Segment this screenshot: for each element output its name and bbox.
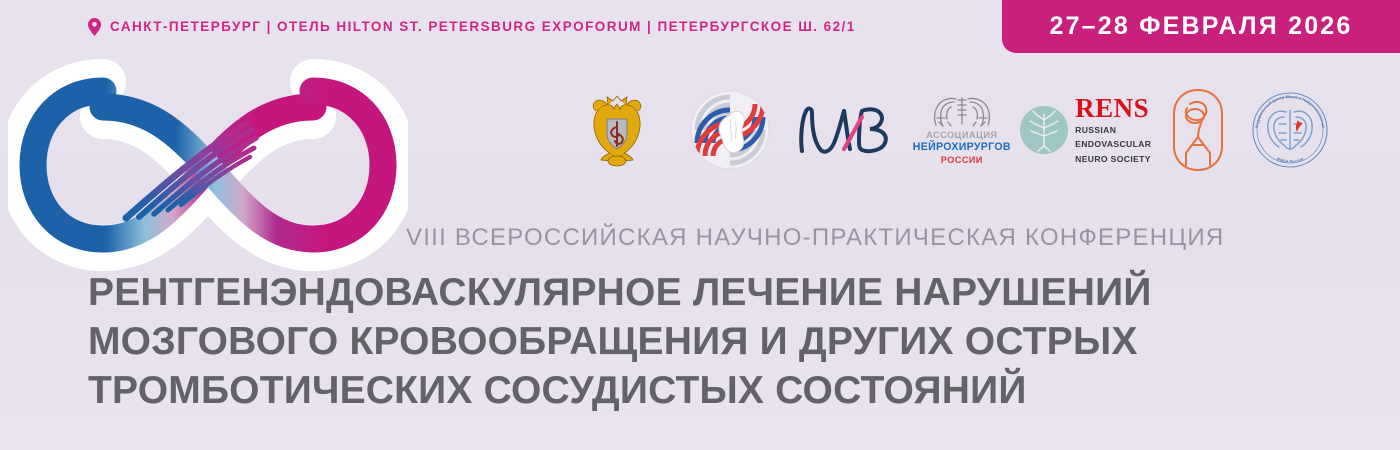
double-headed-eagle-icon <box>580 91 654 169</box>
venue-info: САНКТ-ПЕТЕРБУРГ | ОТЕЛЬ HILTON ST. PETER… <box>88 18 856 36</box>
venue-text: САНКТ-ПЕТЕРБУРГ | ОТЕЛЬ HILTON ST. PETER… <box>110 20 856 34</box>
brain-outline-icon <box>926 94 998 130</box>
top-bar: САНКТ-ПЕТЕРБУРГ | ОТЕЛЬ HILTON ST. PETER… <box>0 0 1400 58</box>
neuro-line-3: РОССИИ <box>941 155 983 167</box>
conference-banner: САНКТ-ПЕТЕРБУРГ | ОТЕЛЬ HILTON ST. PETER… <box>0 0 1400 450</box>
rens-brain-circle-icon <box>1018 104 1070 156</box>
headline-line-2: МОЗГОВОГО КРОВООБРАЩЕНИЯ И ДРУГИХ ОСТРЫХ <box>88 317 1328 366</box>
rens-sub-3: NEURO SOCIETY <box>1075 154 1151 165</box>
neuro-line-1: АССОЦИАЦИЯ <box>926 130 997 142</box>
date-badge: 27–28 ФЕВРАЛЯ 2026 <box>1002 0 1400 53</box>
rens-sub-2: ENDOVASCULAR <box>1075 139 1151 150</box>
neurosurgeons-association: АССОЦИАЦИЯ НЕЙРОХИРУРГОВ РОССИИ <box>910 82 1014 178</box>
neuro-line-2: НЕЙРОХИРУРГОВ <box>913 141 1011 154</box>
rens-title: RENS <box>1075 95 1151 122</box>
conference-headline: РЕНТГЕНЭНДОВАСКУЛЯРНОЕ ЛЕЧЕНИЕ НАРУШЕНИЙ… <box>88 268 1328 415</box>
rens-sub-1: RUSSIAN <box>1075 125 1151 136</box>
ministry-health-emblem <box>560 82 673 178</box>
heart-tricolor-icon <box>689 89 771 171</box>
svg-text:ФМБА России: ФМБА России <box>1276 156 1305 164</box>
cardiology-heart-emblem <box>673 82 786 178</box>
infinity-logo <box>8 58 408 273</box>
infinity-logo-graphic <box>8 58 408 273</box>
location-pin-icon <box>88 18 101 36</box>
date-badge-label: 27–28 ФЕВРАЛЯ 2026 <box>1049 14 1352 39</box>
headline-line-3: ТРОМБОТИЧЕСКИХ СОСУДИСТЫХ СОСТОЯНИЙ <box>88 366 1328 415</box>
vessel-aneurysm-emblem <box>1156 82 1241 178</box>
brain-center-emblem: Федеральный Центр Мозга и Нейротехнологи… <box>1241 82 1340 178</box>
brain-center-circle-icon: Федеральный Центр Мозга и Нейротехнологи… <box>1250 90 1330 170</box>
vessel-outline-icon <box>1170 87 1226 173</box>
ihv-monogram-icon <box>792 97 904 163</box>
ihv-monogram <box>787 82 910 178</box>
conference-kicker: VIII ВСЕРОССИЙСКАЯ НАУЧНО-ПРАКТИЧЕСКАЯ К… <box>406 226 1224 250</box>
rens-logo: RENS RUSSIAN ENDOVASCULAR NEURO SOCIETY <box>1014 82 1156 178</box>
headline-line-1: РЕНТГЕНЭНДОВАСКУЛЯРНОЕ ЛЕЧЕНИЕ НАРУШЕНИЙ <box>88 268 1328 317</box>
partner-logos: АССОЦИАЦИЯ НЕЙРОХИРУРГОВ РОССИИ <box>560 82 1340 178</box>
